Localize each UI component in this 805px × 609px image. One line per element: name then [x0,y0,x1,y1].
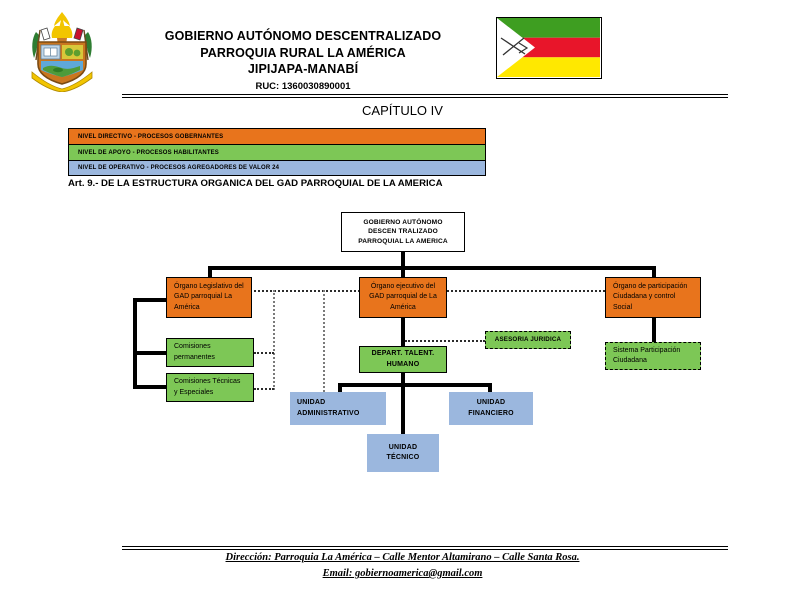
node-legislative-line-3: América [167,303,251,313]
node-unit-technical-line-2: TÉCNICO [367,453,439,463]
node-human-talent-line-2: HUMANO [360,360,446,370]
dotted-vertical-right [323,290,325,400]
node-executive-line-2: GAD parroquial de La [360,292,446,302]
node-legislative-body[interactable]: Órgano Legislativo del GAD parroquial La… [166,277,252,318]
dotted-connector-commissions-permanent [254,352,274,354]
dotted-connector-asesoria [405,340,485,342]
node-commissions-permanent[interactable]: Comisiones permanentes [166,338,254,367]
node-root-line-1: GOBIERNO AUTÓNOMO [342,218,464,228]
document-page: GOBIERNO AUTÓNOMO DESCENTRALIZADO PARROQ… [0,0,805,609]
node-participation-body[interactable]: Órgano de participación Ciudadana y cont… [605,277,701,318]
node-executive-line-3: América [360,303,446,313]
connector-left-trunk [133,298,137,388]
connector-participation-to-system [652,317,656,343]
node-citizen-participation-system[interactable]: Sistema Participación Ciudadana [605,342,701,370]
node-root-line-2: DESCEN TRALIZADO [342,227,464,237]
node-commissions-technical[interactable]: Comisiones Técnicas y Especiales [166,373,254,402]
connector-legislative-out [133,298,168,302]
node-citizen-system-line-1: Sistema Participación [606,346,700,356]
node-unit-financial-line-2: FINANCIERO [449,409,533,419]
organizational-chart: GOBIERNO AUTÓNOMO DESCEN TRALIZADO PARRO… [0,0,805,609]
node-participation-line-3: Social [606,303,700,313]
connector-units-bus [338,383,492,387]
node-participation-line-2: Ciudadana y control [606,292,700,302]
connector-drop-technical [401,383,405,435]
footer-email: Email: gobiernoamerica@gmail.com [0,568,805,579]
node-citizen-system-line-2: Ciudadana [606,356,700,366]
node-unit-technical-line-1: UNIDAD [367,443,439,453]
node-unit-financial-line-1: UNIDAD [449,398,533,408]
node-legal-advisory-label: ASESORIA JURIDICA [486,336,570,345]
node-executive-line-1: Órgano ejecutivo del [360,282,446,292]
footer-divider-rule [122,546,728,550]
node-unit-technical[interactable]: UNIDAD TÉCNICO [367,434,439,472]
footer-address-text: Dirección: Parroquia La América – Calle … [226,552,580,563]
footer-address: Dirección: Parroquia La América – Calle … [0,552,805,563]
connector-to-commissions-technical [133,385,168,389]
dotted-connector-commissions-technical [254,388,274,390]
node-human-talent-line-1: DEPART. TALENT. [360,349,446,359]
dotted-vertical-left [273,290,275,390]
connector-level2-bus [208,266,656,270]
dotted-connector-legislative-executive [250,290,360,292]
node-legislative-line-2: GAD parroquial La [167,292,251,302]
node-human-talent[interactable]: DEPART. TALENT. HUMANO [359,346,447,373]
node-participation-line-1: Órgano de participación [606,282,700,292]
node-commissions-permanent-line-1: Comisiones [167,342,253,352]
node-legislative-line-1: Órgano Legislativo del [167,282,251,292]
dotted-connector-executive-participation [447,290,605,292]
node-commissions-technical-line-1: Comisiones Técnicas [167,377,253,387]
connector-executive-to-talent [401,317,405,347]
node-legal-advisory[interactable]: ASESORIA JURIDICA [485,331,571,349]
connector-to-commissions-permanent [133,351,168,355]
node-unit-administrative-line-1: UNIDAD [290,398,386,408]
footer-email-text: Email: gobiernoamerica@gmail.com [323,568,483,579]
node-unit-administrative-line-2: ADMINISTRATIVO [290,409,386,419]
node-root-gad[interactable]: GOBIERNO AUTÓNOMO DESCEN TRALIZADO PARRO… [341,212,465,252]
node-executive-body[interactable]: Órgano ejecutivo del GAD parroquial de L… [359,277,447,318]
node-unit-administrative[interactable]: UNIDAD ADMINISTRATIVO [290,392,386,425]
node-commissions-technical-line-2: y Especiales [167,388,253,398]
node-root-line-3: PARROQUIAL LA AMERICA [342,237,464,247]
node-commissions-permanent-line-2: permanentes [167,353,253,363]
node-unit-financial[interactable]: UNIDAD FINANCIERO [449,392,533,425]
